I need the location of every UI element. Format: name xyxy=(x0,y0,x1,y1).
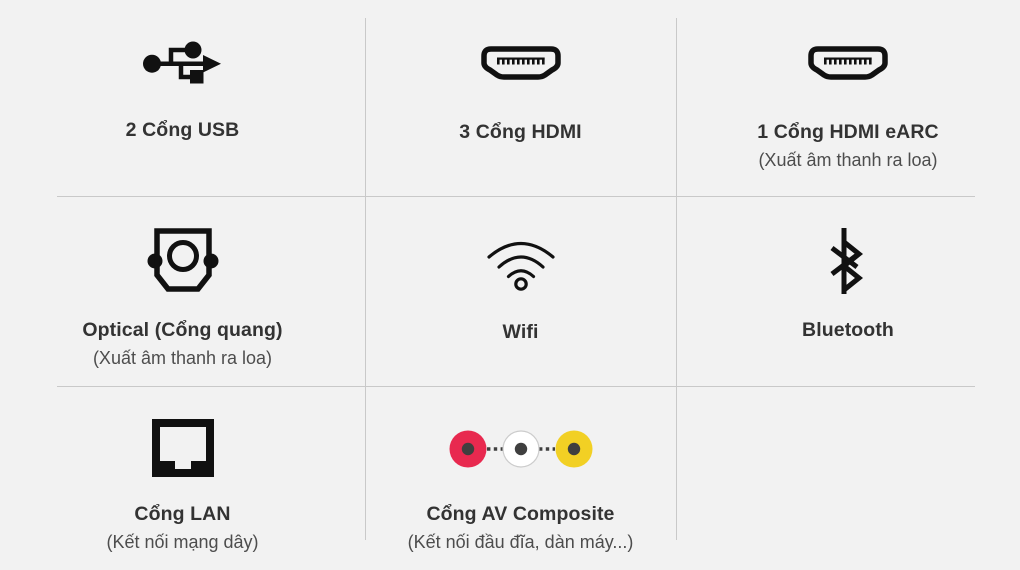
grid-divider-vertical-1 xyxy=(365,18,366,540)
feature-title: Bluetooth xyxy=(802,318,894,343)
feature-cell-empty xyxy=(676,386,1020,570)
feature-cell-lan: Cổng LAN (Kết nối mạng dây) xyxy=(0,386,365,570)
hdmi-earc-labels: 1 Cổng HDMI eARC (Xuất âm thanh ra loa) xyxy=(757,120,938,172)
grid-divider-horizontal-1 xyxy=(57,196,975,197)
hdmi-earc-icon-wrap xyxy=(805,24,891,102)
feature-cell-hdmi-earc: 1 Cổng HDMI eARC (Xuất âm thanh ra loa) xyxy=(676,0,1020,196)
optical-icon-wrap xyxy=(141,218,225,304)
connectivity-feature-grid: 2 Cổng USB xyxy=(0,0,1020,570)
feature-cell-av-composite: Cổng AV Composite (Kết nối đầu đĩa, dàn … xyxy=(365,386,676,570)
usb-labels: 2 Cổng USB xyxy=(126,118,240,143)
feature-title: 2 Cổng USB xyxy=(126,118,240,143)
hdmi-port-icon xyxy=(478,46,564,80)
usb-icon-wrap xyxy=(141,24,225,102)
wifi-labels: Wifi xyxy=(503,320,539,345)
bluetooth-icon-wrap xyxy=(826,218,870,304)
feature-title: 3 Cổng HDMI xyxy=(459,120,581,145)
feature-subtitle: (Kết nối đầu đĩa, dàn máy...) xyxy=(408,531,634,554)
feature-title: Cổng AV Composite xyxy=(408,502,634,527)
grid-divider-vertical-2 xyxy=(676,18,677,540)
hdmi-earc-port-icon xyxy=(805,46,891,80)
feature-cell-wifi: Wifi xyxy=(365,196,676,386)
bluetooth-labels: Bluetooth xyxy=(802,318,894,343)
grid-divider-horizontal-2 xyxy=(57,386,975,387)
feature-title: 1 Cổng HDMI eARC xyxy=(757,120,938,145)
feature-cell-usb: 2 Cổng USB xyxy=(0,0,365,196)
feature-title: Cổng LAN xyxy=(106,502,258,527)
lan-icon-wrap xyxy=(150,412,216,484)
optical-labels: Optical (Cổng quang) (Xuất âm thanh ra l… xyxy=(82,318,282,370)
feature-cell-bluetooth: Bluetooth xyxy=(676,196,1020,386)
feature-cell-hdmi: 3 Cổng HDMI xyxy=(365,0,676,196)
feature-subtitle: (Kết nối mạng dây) xyxy=(106,531,258,554)
lan-ethernet-port-icon xyxy=(150,417,216,479)
usb-icon xyxy=(141,40,225,86)
feature-title: Optical (Cổng quang) xyxy=(82,318,282,343)
hdmi-labels: 3 Cổng HDMI xyxy=(459,120,581,145)
av-composite-labels: Cổng AV Composite (Kết nối đầu đĩa, dàn … xyxy=(408,502,634,554)
lan-labels: Cổng LAN (Kết nối mạng dây) xyxy=(106,502,258,554)
feature-subtitle: (Xuất âm thanh ra loa) xyxy=(82,347,282,370)
av-composite-icon-wrap xyxy=(446,420,596,478)
av-composite-rca-icon xyxy=(446,428,596,470)
feature-subtitle: (Xuất âm thanh ra loa) xyxy=(757,149,938,172)
hdmi-icon-wrap xyxy=(478,24,564,102)
wifi-icon-wrap xyxy=(481,222,561,304)
bluetooth-icon xyxy=(826,225,870,297)
feature-cell-optical: Optical (Cổng quang) (Xuất âm thanh ra l… xyxy=(0,196,365,386)
wifi-icon xyxy=(481,234,561,292)
feature-title: Wifi xyxy=(503,320,539,345)
optical-audio-port-icon xyxy=(141,223,225,299)
